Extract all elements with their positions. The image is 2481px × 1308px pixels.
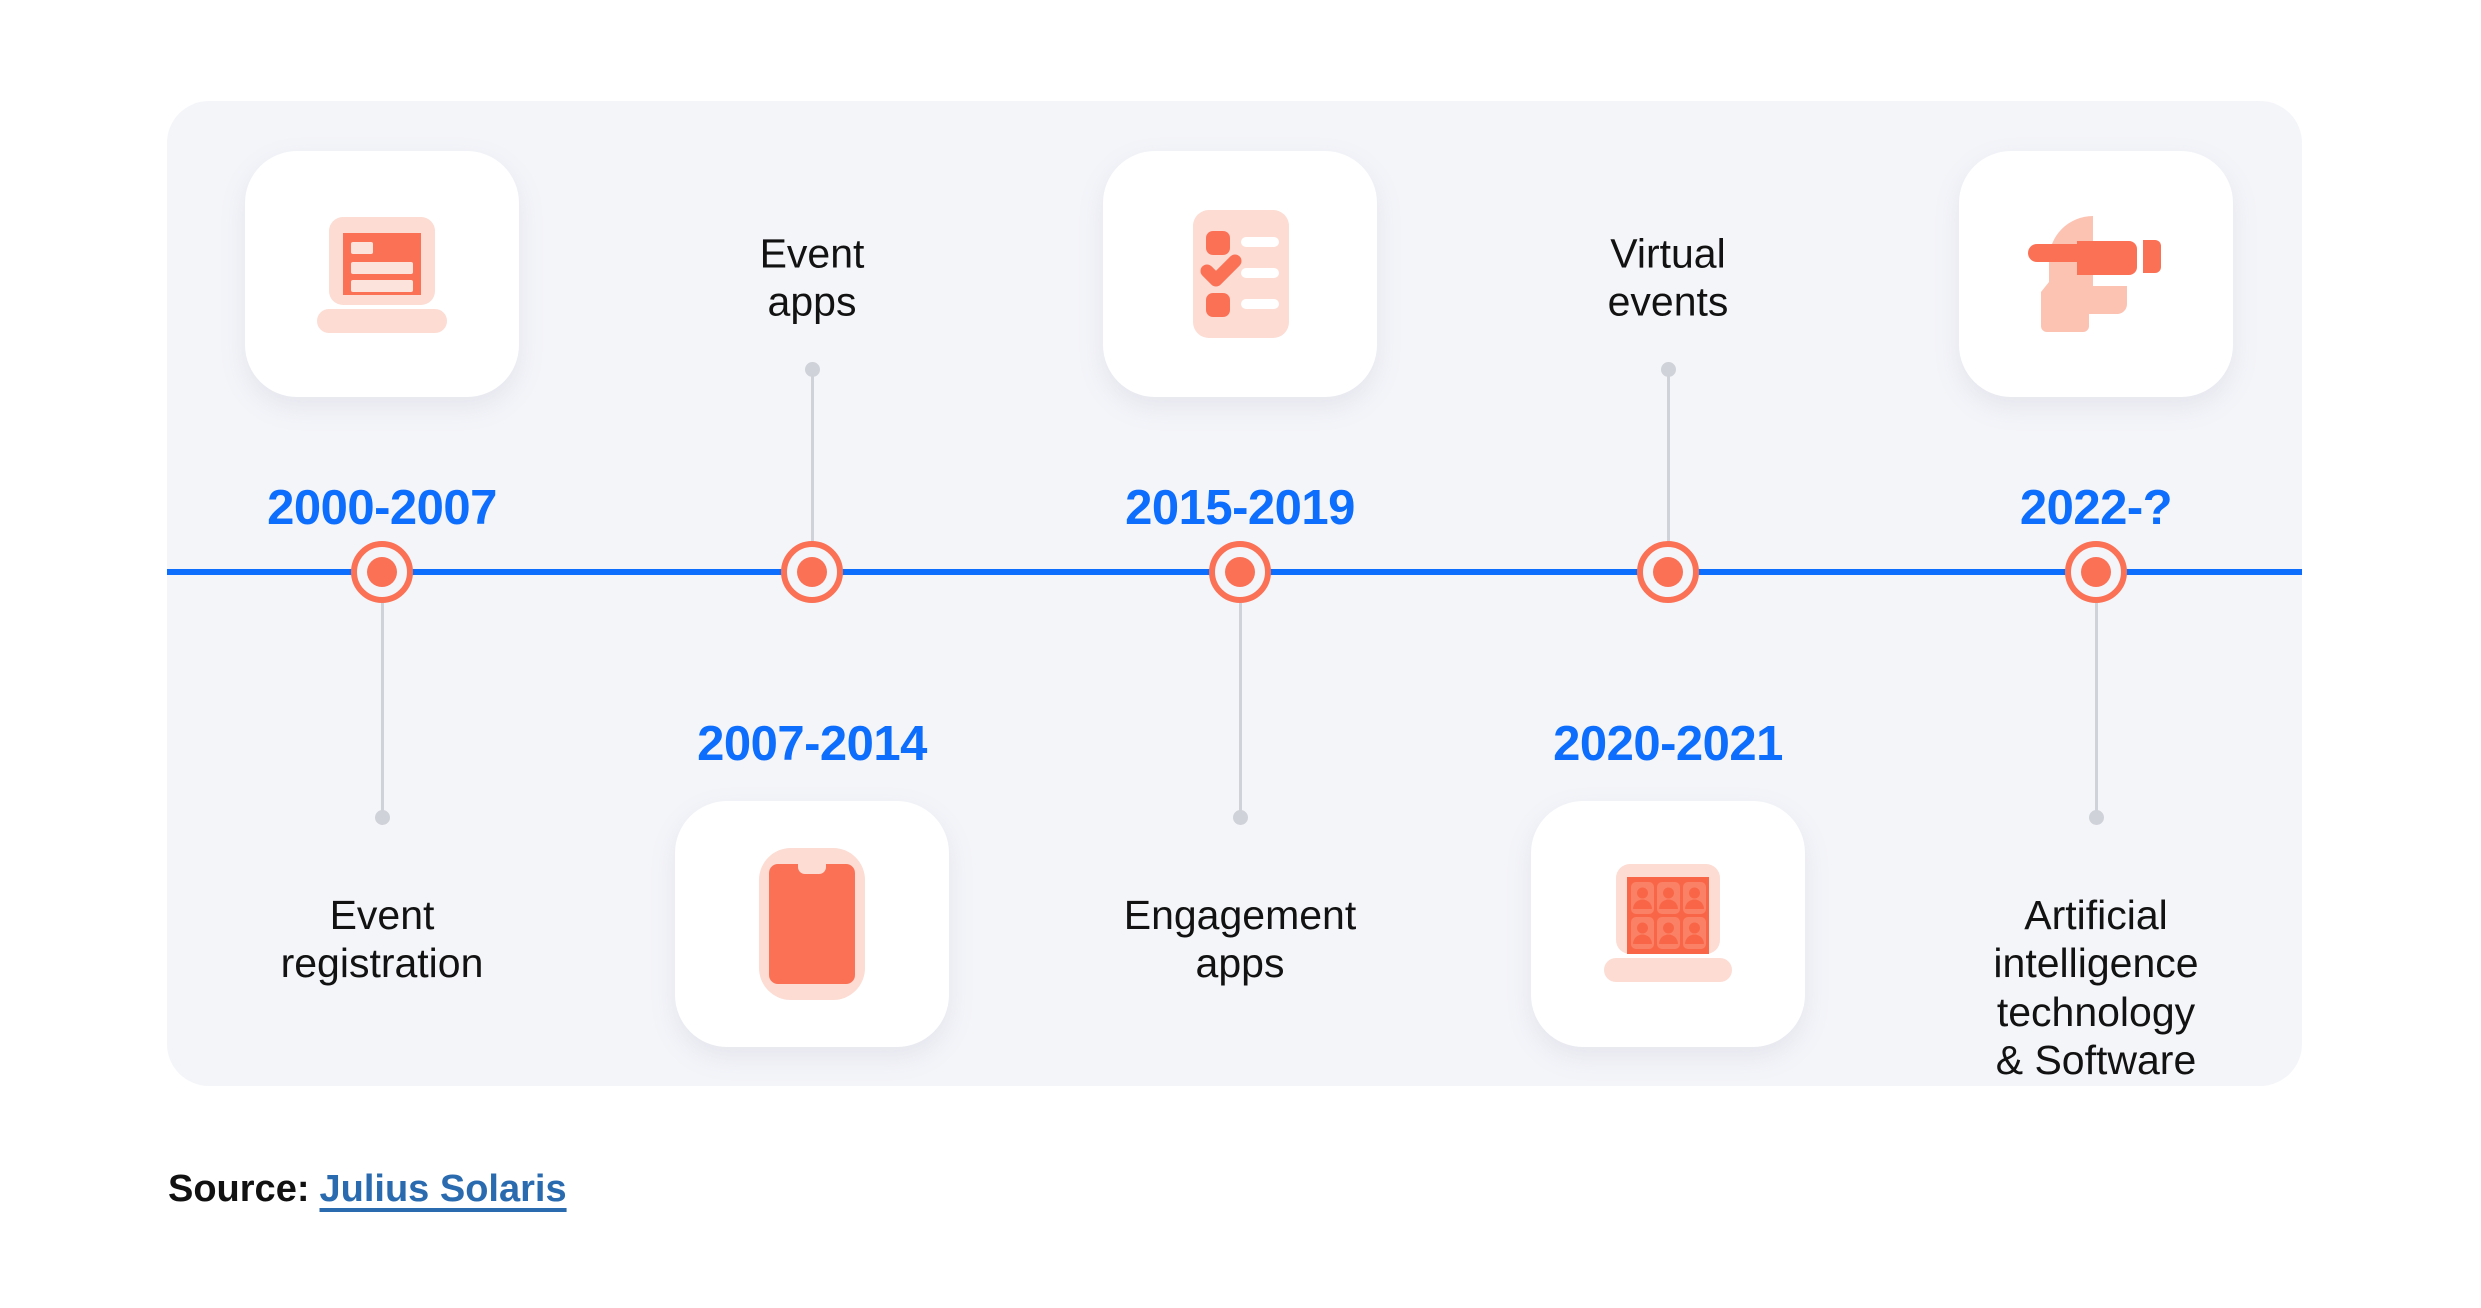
icon-card-smartphone [675, 801, 949, 1047]
year-label: 2015-2019 [1060, 480, 1420, 536]
milestone-2020-2021: Virtual events 2020-2021 [1488, 101, 1848, 1086]
year-label: 2000-2007 [202, 480, 562, 536]
year-label: 2020-2021 [1488, 716, 1848, 772]
timeline-panel: 2000-2007 Event registration Event apps … [167, 101, 2302, 1086]
label-line: registration [202, 939, 562, 987]
label-line: Event [632, 229, 992, 277]
milestone-2015-2019: 2015-2019 Engagement apps [1060, 101, 1420, 1086]
label-line: events [1488, 278, 1848, 326]
laptop-registration-icon [307, 209, 457, 339]
connector-line [381, 603, 384, 818]
smartphone-icon [747, 842, 877, 1007]
milestone-2007-2014: Event apps 2007-2014 [632, 101, 992, 1086]
milestone-label: Event apps [632, 229, 992, 326]
milestone-2022-future: 2022-? Artificial intelligence technolog… [1916, 101, 2276, 1086]
milestone-label: Engagement apps [1060, 891, 1420, 988]
icon-card-checklist [1103, 151, 1377, 397]
source-link[interactable]: Julius Solaris [319, 1168, 566, 1210]
milestone-label: Event registration [202, 891, 562, 988]
source-line: Source:Julius Solaris [168, 1168, 567, 1211]
label-line: technology [1916, 988, 2276, 1036]
label-line: apps [1060, 939, 1420, 987]
label-line: Event [202, 891, 562, 939]
milestone-label: Virtual events [1488, 229, 1848, 326]
icon-card-laptop-registration [245, 151, 519, 397]
timeline-marker[interactable] [1209, 541, 1271, 603]
icon-card-vr-headset [1959, 151, 2233, 397]
label-line: Artificial [1916, 891, 2276, 939]
timeline-marker[interactable] [781, 541, 843, 603]
label-line: intelligence [1916, 939, 2276, 987]
year-label: 2007-2014 [632, 716, 992, 772]
infographic-root: 2000-2007 Event registration Event apps … [0, 0, 2481, 1308]
checklist-icon [1175, 204, 1305, 344]
source-label: Source: [168, 1168, 309, 1210]
label-line: Virtual [1488, 229, 1848, 277]
milestone-label: Artificial intelligence technology & Sof… [1916, 891, 2276, 1085]
timeline-marker[interactable] [2065, 541, 2127, 603]
label-line: apps [632, 278, 992, 326]
timeline-marker[interactable] [1637, 541, 1699, 603]
icon-card-video-call-laptop [1531, 801, 1805, 1047]
connector-line [2095, 603, 2098, 818]
video-call-laptop-icon [1592, 858, 1744, 990]
milestone-2000-2007: 2000-2007 Event registration [202, 101, 562, 1086]
connector-line [1239, 603, 1242, 818]
vr-headset-icon [2021, 204, 2171, 344]
label-line: & Software [1916, 1036, 2276, 1084]
timeline-marker[interactable] [351, 541, 413, 603]
label-line: Engagement [1060, 891, 1420, 939]
year-label: 2022-? [1916, 480, 2276, 536]
